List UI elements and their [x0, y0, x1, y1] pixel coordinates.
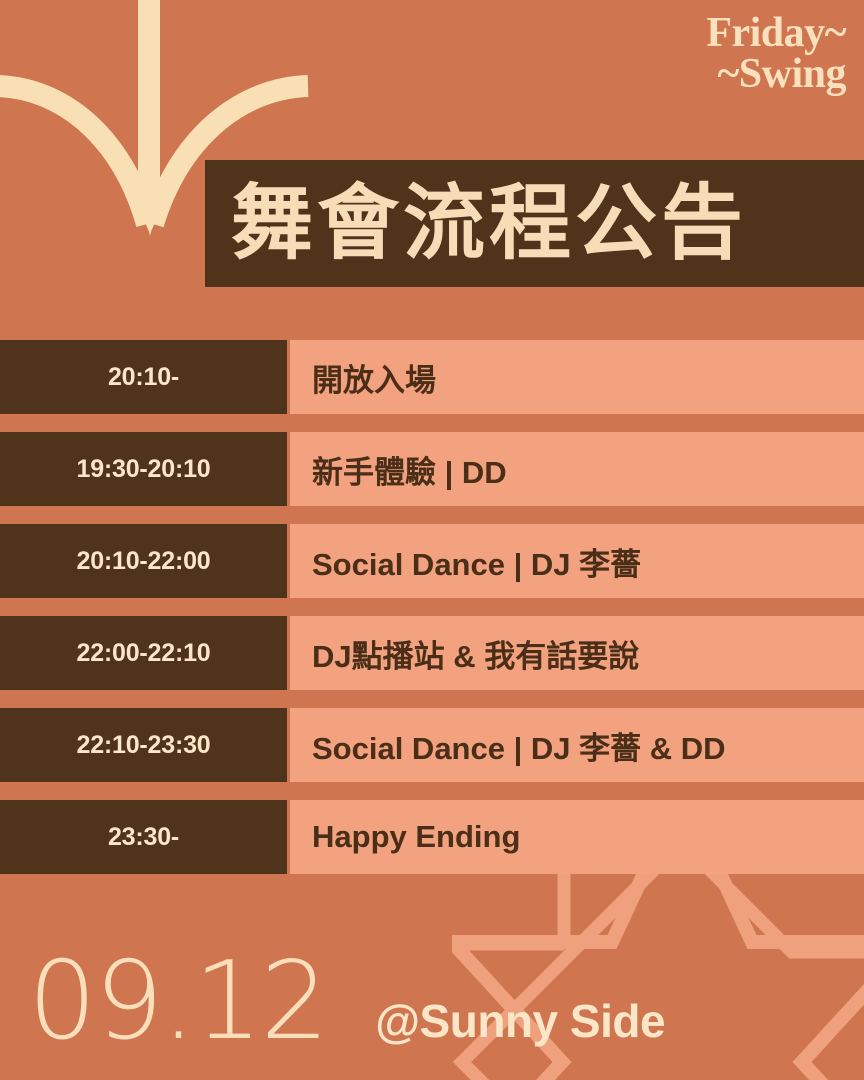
poster-canvas: Friday~ ~Swing 舞會流程公告 20:10- 開放入場 19:30-… [0, 0, 864, 1080]
title-banner: 舞會流程公告 [205, 160, 864, 287]
schedule-row: 19:30-20:10 新手體驗 | DD [0, 432, 864, 506]
schedule-item: Happy Ending [290, 800, 864, 874]
schedule-row: 23:30- Happy Ending [0, 800, 864, 874]
schedule-item: Social Dance | DJ 李薔 [290, 524, 864, 598]
schedule-row: 22:00-22:10 DJ點播站 & 我有話要說 [0, 616, 864, 690]
schedule-item: 新手體驗 | DD [290, 432, 864, 506]
brand-line-2: ~Swing [706, 55, 846, 94]
schedule-time: 22:00-22:10 [0, 616, 287, 690]
page-title: 舞會流程公告 [231, 183, 747, 265]
schedule-time: 23:30- [0, 800, 287, 874]
footer: 09.12 @Sunny Side [0, 920, 864, 1080]
schedule-time: 22:10-23:30 [0, 708, 287, 782]
schedule-row: 20:10- 開放入場 [0, 340, 864, 414]
schedule-item: Social Dance | DJ 李薔 & DD [290, 708, 864, 782]
schedule-item: DJ點播站 & 我有話要說 [290, 616, 864, 690]
event-date: 09.12 [28, 948, 327, 1056]
brand-line-1: Friday~ [706, 14, 846, 53]
schedule-time: 19:30-20:10 [0, 432, 287, 506]
event-venue: @Sunny Side [375, 998, 665, 1044]
brand-logo: Friday~ ~Swing [706, 14, 846, 93]
schedule-item: 開放入場 [290, 340, 864, 414]
schedule-row: 22:10-23:30 Social Dance | DJ 李薔 & DD [0, 708, 864, 782]
schedule-row: 20:10-22:00 Social Dance | DJ 李薔 [0, 524, 864, 598]
schedule-list: 20:10- 開放入場 19:30-20:10 新手體驗 | DD 20:10-… [0, 340, 864, 892]
schedule-time: 20:10- [0, 340, 287, 414]
schedule-time: 20:10-22:00 [0, 524, 287, 598]
